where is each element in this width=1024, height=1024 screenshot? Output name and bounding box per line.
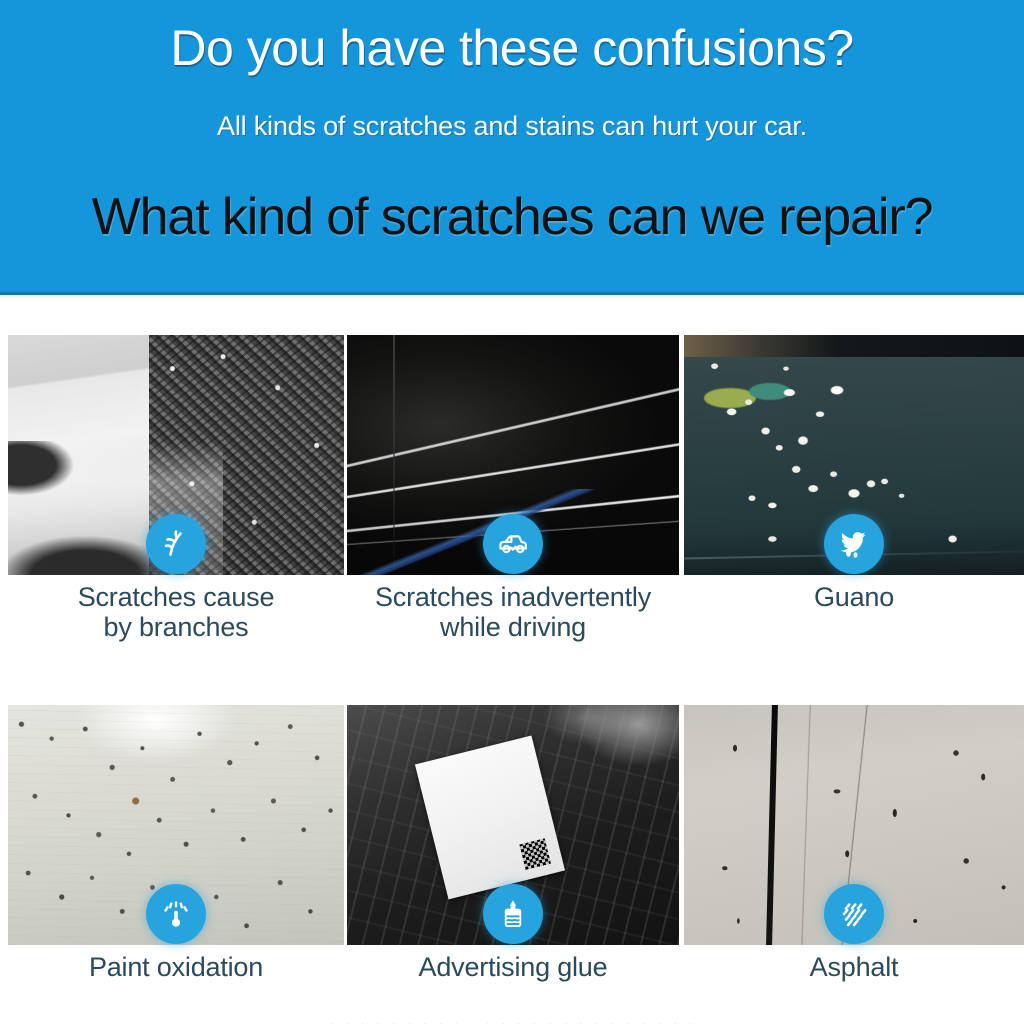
page-subtitle: All kinds of scratches and stains can hu…	[0, 112, 1024, 142]
grid-item-branches[interactable]: Scratches cause by branches	[8, 294, 344, 659]
grid-item-asphalt[interactable]: Asphalt	[684, 664, 1024, 1024]
grid-item-driving[interactable]: Scratches inadvertently while driving	[347, 294, 679, 659]
caption-line-1: Scratches cause	[78, 582, 275, 612]
glue-bottle-icon	[483, 884, 543, 944]
sun-thermometer-icon	[146, 884, 206, 944]
caption-line-2: by branches	[8, 612, 344, 642]
caption-driving: Scratches inadvertently while driving	[347, 582, 679, 642]
caption-line-1: Guano	[814, 582, 894, 612]
bird-icon	[824, 514, 884, 574]
branch-icon	[146, 514, 206, 574]
caption-line-1: Paint oxidation	[89, 952, 263, 982]
caption-line-1: Asphalt	[810, 952, 899, 982]
page-question-heading: What kind of scratches can we repair?	[0, 190, 1024, 245]
grid-row-bottom: Paint oxidation	[0, 664, 1024, 1024]
car-scratch-icon	[483, 514, 543, 574]
grid-item-glue[interactable]: Advertising glue	[347, 664, 679, 1024]
grid-row-top: Scratches cause by branches	[0, 294, 1024, 659]
hatch-pattern-icon	[824, 884, 884, 944]
grid-item-oxidation[interactable]: Paint oxidation	[8, 664, 344, 1024]
infographic-page: Do you have these confusions? All kinds …	[0, 0, 1024, 1024]
page-title: Do you have these confusions?	[0, 22, 1024, 75]
caption-line-1: Scratches inadvertently	[375, 582, 651, 612]
grid-item-guano[interactable]: Guano	[684, 294, 1024, 659]
caption-guano: Guano	[684, 582, 1024, 612]
damage-type-grid: Scratches cause by branches	[0, 294, 1024, 1024]
caption-line-2: while driving	[347, 612, 679, 642]
caption-asphalt: Asphalt	[684, 952, 1024, 982]
caption-oxidation: Paint oxidation	[8, 952, 344, 982]
caption-glue: Advertising glue	[347, 952, 679, 982]
caption-branches: Scratches cause by branches	[8, 582, 344, 642]
header-banner: Do you have these confusions? All kinds …	[0, 0, 1024, 294]
footer-cut-off-text: · · · · · · · · · · · · · · · · · · · · …	[0, 1014, 1024, 1024]
caption-line-1: Advertising glue	[419, 952, 608, 982]
